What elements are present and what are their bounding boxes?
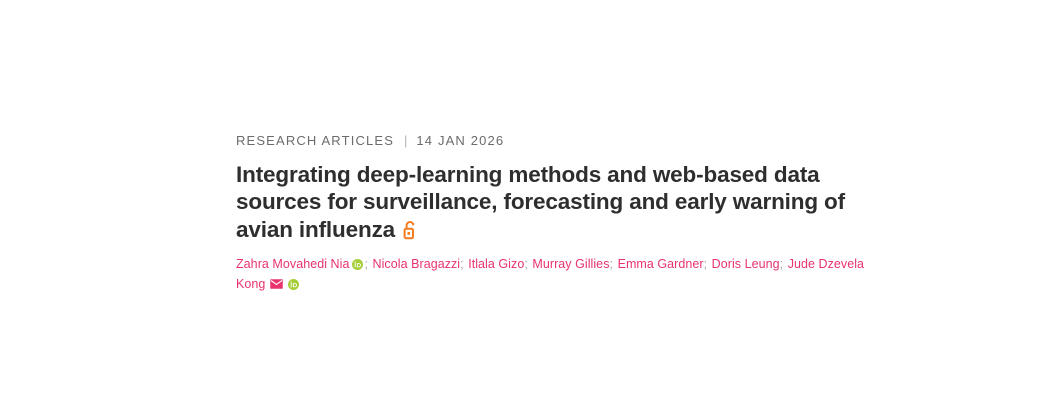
author-link[interactable]: Itlala Gizo bbox=[468, 257, 524, 271]
author-separator: ; bbox=[780, 257, 785, 271]
article-summary: RESEARCH ARTICLES | 14 JAN 2026 Integrat… bbox=[236, 134, 896, 296]
author-separator: ; bbox=[610, 257, 615, 271]
article-type-label: RESEARCH ARTICLES bbox=[236, 134, 394, 147]
author-separator: ; bbox=[460, 257, 465, 271]
meta-separator: | bbox=[404, 134, 407, 147]
corresponding-author-mail-icon[interactable] bbox=[270, 276, 283, 294]
orcid-id-icon[interactable] bbox=[288, 277, 299, 295]
author-link[interactable]: Doris Leung bbox=[712, 257, 780, 271]
author-link[interactable]: Murray Gillies bbox=[532, 257, 609, 271]
author-link[interactable]: Nicola Bragazzi bbox=[373, 257, 461, 271]
author-list: Zahra Movahedi Nia; Nicola Bragazzi; Itl… bbox=[236, 255, 876, 295]
author-link[interactable]: Emma Gardner bbox=[618, 257, 704, 271]
author-separator: ; bbox=[364, 257, 369, 271]
article-title-link[interactable]: Integrating deep-learning methods and we… bbox=[236, 162, 845, 242]
orcid-id-icon[interactable] bbox=[352, 257, 363, 275]
open-access-lock-icon bbox=[402, 219, 418, 246]
article-listing-page: RESEARCH ARTICLES | 14 JAN 2026 Integrat… bbox=[0, 0, 1064, 410]
author-link[interactable]: Zahra Movahedi Nia bbox=[236, 257, 349, 271]
article-publication-date: 14 JAN 2026 bbox=[416, 134, 504, 147]
article-meta-line: RESEARCH ARTICLES | 14 JAN 2026 bbox=[236, 134, 896, 147]
author-separator: ; bbox=[524, 257, 529, 271]
author-separator: ; bbox=[704, 257, 709, 271]
article-title: Integrating deep-learning methods and we… bbox=[236, 161, 876, 246]
